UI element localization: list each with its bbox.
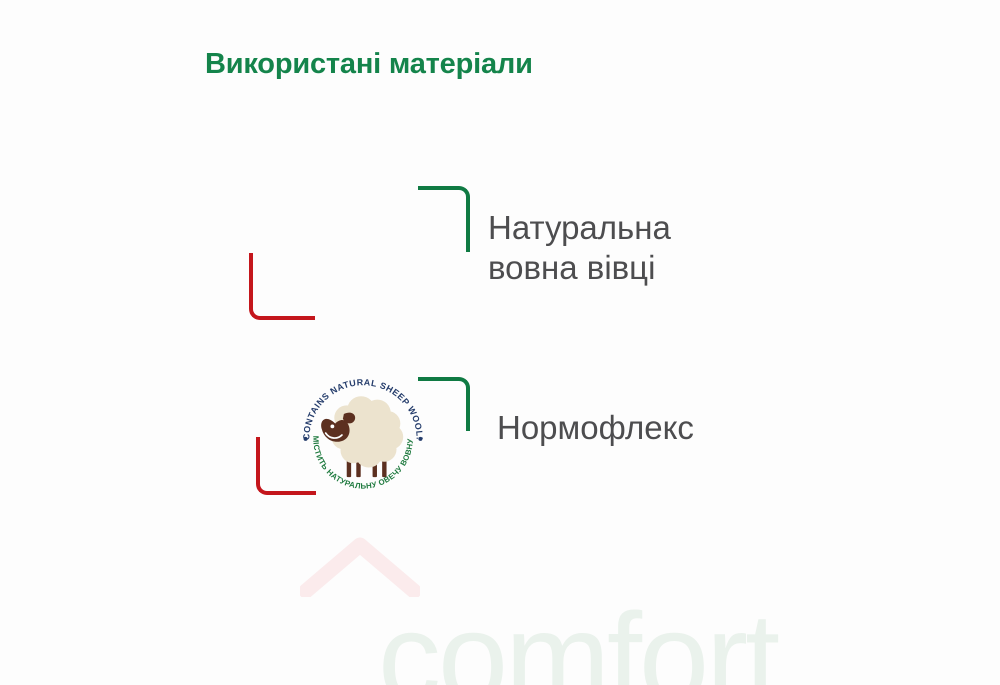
bracket-green-normoflex [418, 377, 470, 431]
roof-chevron-icon [300, 537, 420, 597]
material-item-wool: CONTAINS NATURAL SHEEP WOOL! МІСТИТЬ НАТ… [0, 175, 1000, 340]
bracket-red-normoflex [256, 437, 316, 495]
slide-root: comfort Використані матеріали CONTAINS N… [0, 0, 1000, 685]
bracket-green-wool [418, 186, 470, 252]
material-label-normoflex: Нормофлекс [497, 408, 694, 448]
material-label-wool: Натуральна вовна вівці [488, 208, 671, 289]
page-title: Використані матеріали [205, 48, 533, 81]
brand-watermark-text: comfort [378, 595, 777, 685]
material-item-normoflex: Нормофлекс [0, 358, 1000, 503]
brand-watermark: comfort [300, 523, 1000, 685]
bracket-red-wool [249, 253, 315, 320]
